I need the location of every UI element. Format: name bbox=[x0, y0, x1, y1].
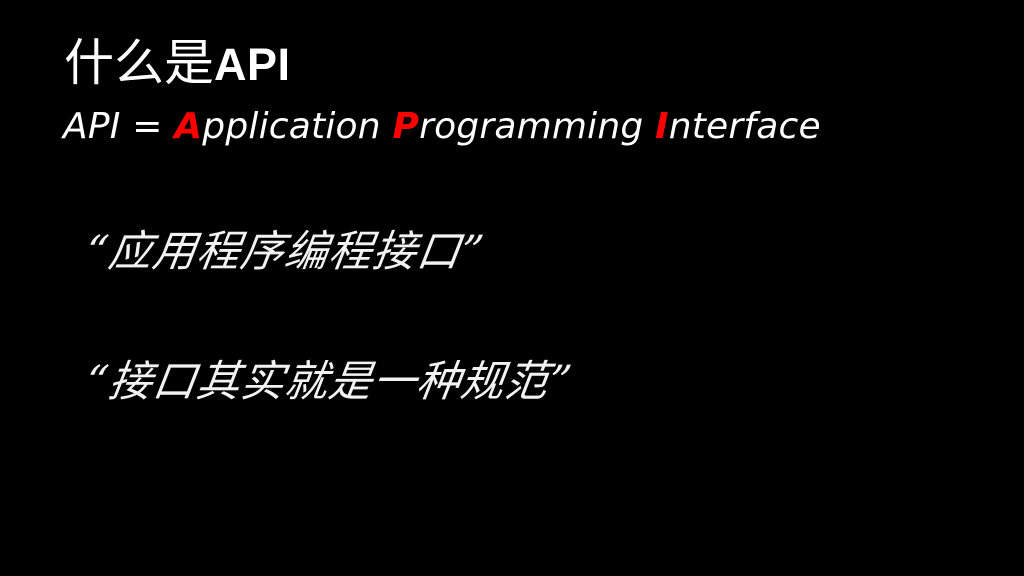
expansion-initial-p: P bbox=[392, 106, 419, 147]
expansion-word-programming: rogramming bbox=[419, 106, 643, 147]
definition-quote-1: “应用程序编程接口” bbox=[82, 226, 487, 278]
page-title-latin: API bbox=[214, 39, 291, 90]
expansion-prefix: API = bbox=[63, 106, 174, 147]
quote-text-2: 接口其实就是一种规范 bbox=[105, 357, 552, 407]
quote-text-1: 应用程序编程接口 bbox=[105, 227, 464, 277]
page-title-cjk: 什么是 bbox=[64, 34, 214, 92]
expansion-initial-a: A bbox=[174, 106, 202, 147]
expansion-word-interface: nterface bbox=[669, 106, 821, 147]
definition-quote-2: “接口其实就是一种规范” bbox=[82, 356, 575, 408]
presentation-slide: 什么是API API = Application Programming Int… bbox=[0, 0, 1024, 576]
expansion-space-1 bbox=[381, 106, 393, 147]
expansion-space-2 bbox=[643, 106, 655, 147]
expansion-word-application: pplication bbox=[202, 106, 381, 147]
page-title: 什么是API bbox=[64, 31, 291, 97]
api-expansion-line: API = Application Programming Interface bbox=[63, 103, 821, 151]
expansion-initial-i: I bbox=[655, 106, 669, 147]
